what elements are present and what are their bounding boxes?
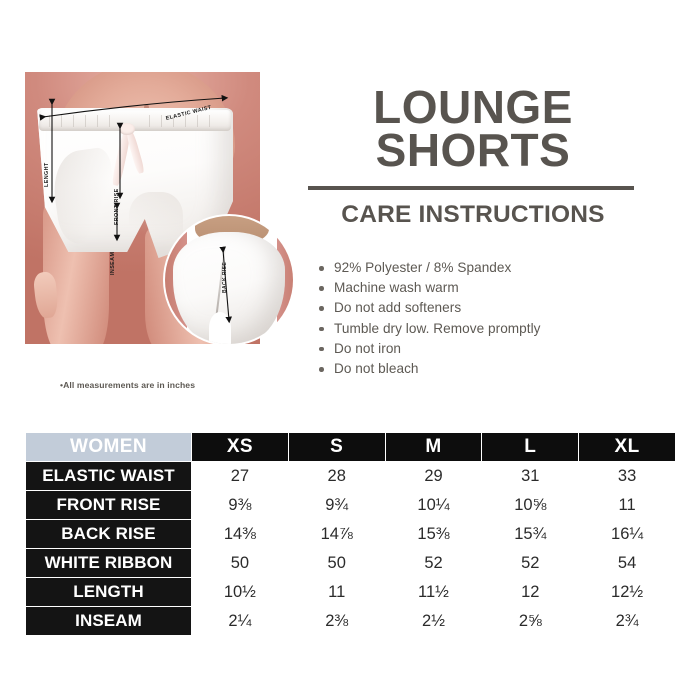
cell-value: 11: [288, 578, 385, 607]
list-item: 92% Polyester / 8% Spandex: [316, 258, 656, 278]
row-label-elastic-waist: ELASTIC WAIST: [26, 462, 192, 491]
table-header-size-xs: XS: [192, 433, 289, 462]
list-item: Machine wash warm: [316, 278, 656, 298]
cell-value: 27: [192, 462, 289, 491]
table-row: INSEAM 2¼ 2⅜ 2½ 2⅝ 2¾: [26, 607, 676, 636]
title-line-2: SHORTS: [376, 124, 571, 176]
cell-value: 52: [385, 549, 482, 578]
table-header-size-s: S: [288, 433, 385, 462]
page-title: LOUNGE SHORTS: [308, 86, 638, 172]
table-corner-label: WOMEN: [26, 433, 192, 462]
cell-value: 12: [482, 578, 579, 607]
cell-value: 2¾: [579, 607, 676, 636]
title-block: LOUNGE SHORTS CARE INSTRUCTIONS: [308, 86, 638, 229]
table-header-size-m: M: [385, 433, 482, 462]
measure-label-inseam: INSEAM: [110, 252, 116, 275]
table-header-row: WOMEN XS S M L XL: [26, 433, 676, 462]
table-row: ELASTIC WAIST 27 28 29 31 33: [26, 462, 676, 491]
back-rise-arrow: [165, 216, 293, 344]
cell-value: 9¾: [288, 491, 385, 520]
back-rise-detail-inset: BACK RISE: [165, 216, 293, 344]
cell-value: 2½: [385, 607, 482, 636]
cell-value: 2¼: [192, 607, 289, 636]
product-figure: ELASTIC WAIST LENGHT FRONT RISE INSEAM B…: [25, 72, 295, 372]
cell-value: 50: [288, 549, 385, 578]
cell-value: 2⅜: [288, 607, 385, 636]
table-header-size-xl: XL: [579, 433, 676, 462]
cell-value: 15¾: [482, 520, 579, 549]
list-item: Tumble dry low. Remove promptly: [316, 319, 656, 339]
size-chart-table: WOMEN XS S M L XL ELASTIC WAIST 27 28 29…: [25, 432, 676, 636]
measure-label-length: LENGHT: [44, 162, 50, 187]
care-instructions-list: 92% Polyester / 8% Spandex Machine wash …: [316, 258, 656, 379]
cell-value: 28: [288, 462, 385, 491]
cell-value: 15⅜: [385, 520, 482, 549]
table-row: WHITE RIBBON 50 50 52 52 54: [26, 549, 676, 578]
table-row: LENGTH 10½ 11 11½ 12 12½: [26, 578, 676, 607]
title-divider: [308, 186, 634, 190]
row-label-back-rise: BACK RISE: [26, 520, 192, 549]
care-instructions-title: CARE INSTRUCTIONS: [308, 201, 638, 229]
cell-value: 52: [482, 549, 579, 578]
cell-value: 16¼: [579, 520, 676, 549]
cell-value: 33: [579, 462, 676, 491]
list-item: Do not add softeners: [316, 298, 656, 318]
table-header-size-l: L: [482, 433, 579, 462]
measure-label-back-rise: BACK RISE: [222, 262, 228, 293]
cell-value: 31: [482, 462, 579, 491]
cell-value: 11½: [385, 578, 482, 607]
cell-value: 54: [579, 549, 676, 578]
row-label-front-rise: FRONT RISE: [26, 491, 192, 520]
cell-value: 2⅝: [482, 607, 579, 636]
cell-value: 11: [579, 491, 676, 520]
row-label-length: LENGTH: [26, 578, 192, 607]
cell-value: 10⅝: [482, 491, 579, 520]
cell-value: 14⅜: [192, 520, 289, 549]
top-section: ELASTIC WAIST LENGHT FRONT RISE INSEAM B…: [0, 0, 700, 410]
row-label-inseam: INSEAM: [26, 607, 192, 636]
cell-value: 14⅞: [288, 520, 385, 549]
measurements-footnote: •All measurements are in inches: [60, 380, 195, 390]
table-row: BACK RISE 14⅜ 14⅞ 15⅜ 15¾ 16¼: [26, 520, 676, 549]
measure-label-front-rise: FRONT RISE: [114, 188, 120, 225]
cell-value: 29: [385, 462, 482, 491]
list-item: Do not iron: [316, 339, 656, 359]
row-label-white-ribbon: WHITE RIBBON: [26, 549, 192, 578]
cell-value: 50: [192, 549, 289, 578]
table-row: FRONT RISE 9⅜ 9¾ 10¼ 10⅝ 11: [26, 491, 676, 520]
cell-value: 9⅜: [192, 491, 289, 520]
cell-value: 10¼: [385, 491, 482, 520]
list-item: Do not bleach: [316, 359, 656, 379]
size-chart-table-wrapper: WOMEN XS S M L XL ELASTIC WAIST 27 28 29…: [25, 432, 675, 636]
cell-value: 12½: [579, 578, 676, 607]
cell-value: 10½: [192, 578, 289, 607]
